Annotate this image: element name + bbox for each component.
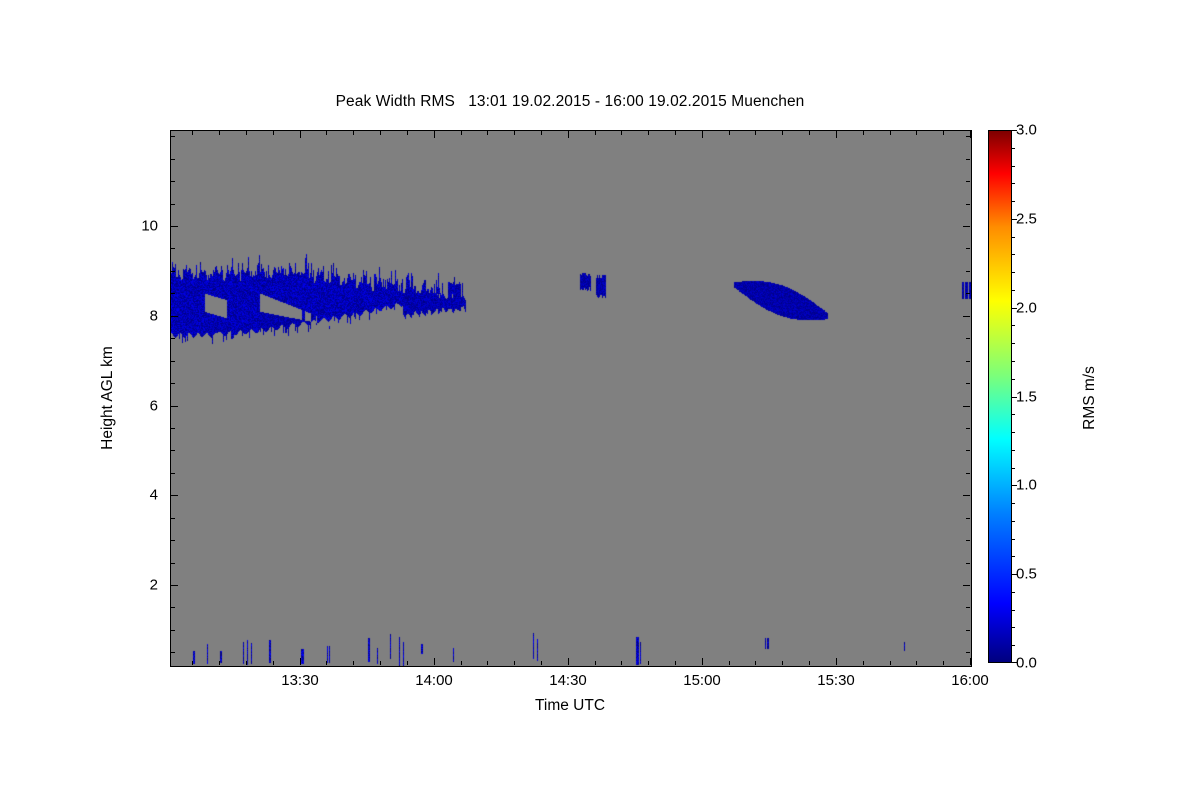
x-tick-top [809, 131, 810, 135]
x-tick-bottom [461, 661, 462, 665]
colorbar-ticklabel: 1.5 [1016, 389, 1037, 406]
plot-area[interactable] [170, 130, 972, 667]
x-tick-top [890, 131, 891, 135]
x-tick-top [192, 131, 193, 135]
figure-title: Peak Width RMS 13:01 19.02.2015 - 16:00 … [0, 93, 1140, 111]
colorbar-tick-minor [1012, 325, 1015, 326]
y-tick-right [966, 383, 970, 384]
colorbar-tick-minor [1012, 485, 1015, 486]
colorbar-tick-minor [1012, 414, 1015, 415]
x-tick-bottom [836, 658, 837, 665]
x-tick-bottom [353, 661, 354, 665]
x-ticklabel: 15:00 [683, 672, 721, 689]
x-tick-bottom [514, 661, 515, 665]
x-tick-top [380, 131, 381, 135]
y-tick-left [171, 563, 175, 564]
y-ticklabel: 2 [110, 577, 158, 594]
colorbar-gradient [988, 130, 1012, 663]
y-ticklabel: 6 [110, 398, 158, 415]
y-tick-right [966, 204, 970, 205]
y-tick-right [966, 271, 970, 272]
x-ticklabel: 16:00 [951, 672, 989, 689]
y-tick-left [171, 293, 175, 294]
x-tick-top [675, 131, 676, 135]
y-tick-right [966, 450, 970, 451]
heatmap-data-canvas [171, 131, 971, 666]
x-tick-top [729, 131, 730, 135]
y-tick-right [963, 226, 970, 227]
x-tick-top [353, 131, 354, 135]
y-tick-left [171, 630, 175, 631]
colorbar-tick-minor [1012, 539, 1015, 540]
y-tick-right [966, 563, 970, 564]
colorbar-tick-minor [1012, 379, 1015, 380]
y-tick-right [966, 630, 970, 631]
y-tick-right [966, 248, 970, 249]
y-tick-right [966, 181, 970, 182]
y-tick-right [966, 518, 970, 519]
colorbar-tick-minor [1012, 610, 1015, 611]
colorbar-title: RMS m/s [1081, 308, 1099, 488]
colorbar-tick-minor [1012, 148, 1015, 149]
x-tick-top [916, 131, 917, 135]
colorbar-tick-minor [1012, 290, 1015, 291]
y-tick-right [966, 159, 970, 160]
x-tick-bottom [809, 661, 810, 665]
x-tick-top [246, 131, 247, 135]
x-tick-bottom [541, 661, 542, 665]
x-tick-top [621, 131, 622, 135]
y-tick-right [963, 316, 970, 317]
y-tick-left [171, 271, 175, 272]
y-axis-title: Height AGL km [99, 288, 117, 508]
lidar-peak-width-rms-figure: Peak Width RMS 13:01 19.02.2015 - 16:00 … [0, 0, 1200, 800]
colorbar-tick-minor [1012, 592, 1015, 593]
x-tick-bottom [648, 661, 649, 665]
x-tick-bottom [273, 661, 274, 665]
x-tick-top [970, 131, 971, 138]
y-tick-right [966, 607, 970, 608]
colorbar-tick-minor [1012, 432, 1015, 433]
x-ticklabel: 14:00 [415, 672, 453, 689]
y-tick-left [171, 204, 175, 205]
x-ticklabel: 15:30 [817, 672, 855, 689]
colorbar-ticklabel: 0.5 [1016, 566, 1037, 583]
x-tick-top [595, 131, 596, 135]
colorbar-ticklabel: 2.0 [1016, 300, 1037, 317]
y-ticklabel: 4 [110, 487, 158, 504]
x-tick-top [326, 131, 327, 135]
y-tick-left [171, 159, 175, 160]
x-tick-bottom [970, 658, 971, 665]
x-tick-bottom [943, 661, 944, 665]
y-tick-right [963, 406, 970, 407]
y-tick-right [966, 540, 970, 541]
x-ticklabel: 14:30 [549, 672, 587, 689]
y-tick-right [963, 495, 970, 496]
colorbar-tick-minor [1012, 361, 1015, 362]
y-tick-left [171, 652, 175, 653]
colorbar-ticklabel: 1.0 [1016, 477, 1037, 494]
y-tick-right [966, 338, 970, 339]
x-tick-top [782, 131, 783, 135]
x-tick-bottom [192, 661, 193, 665]
y-tick-right [966, 473, 970, 474]
y-tick-left [171, 181, 175, 182]
y-tick-left [171, 585, 178, 586]
y-tick-left [171, 406, 178, 407]
colorbar-tick-minor [1012, 645, 1015, 646]
y-tick-left [171, 316, 178, 317]
colorbar-tick-minor [1012, 166, 1015, 167]
x-tick-bottom [729, 661, 730, 665]
x-tick-top [407, 131, 408, 135]
x-tick-bottom [568, 658, 569, 665]
x-tick-bottom [487, 661, 488, 665]
colorbar-ticklabel: 3.0 [1016, 122, 1037, 139]
y-tick-right [963, 585, 970, 586]
x-tick-top [461, 131, 462, 135]
x-tick-top [836, 131, 837, 138]
colorbar-tick-minor [1012, 627, 1015, 628]
colorbar-tick-minor [1012, 237, 1015, 238]
x-tick-top [434, 131, 435, 138]
x-tick-top [755, 131, 756, 135]
y-tick-left [171, 428, 175, 429]
y-tick-left [171, 338, 175, 339]
y-tick-left [171, 473, 175, 474]
x-ticklabel: 13:30 [281, 672, 319, 689]
y-ticklabel: 10 [110, 218, 158, 235]
y-tick-right [966, 136, 970, 137]
x-tick-top [300, 131, 301, 138]
y-tick-right [966, 293, 970, 294]
x-tick-bottom [755, 661, 756, 665]
x-tick-bottom [246, 661, 247, 665]
colorbar-tick-minor [1012, 450, 1015, 451]
y-tick-left [171, 136, 175, 137]
x-tick-bottom [621, 661, 622, 665]
x-tick-bottom [675, 661, 676, 665]
y-tick-left [171, 607, 175, 608]
x-tick-bottom [407, 661, 408, 665]
colorbar-tick-minor [1012, 468, 1015, 469]
colorbar-tick-minor [1012, 272, 1015, 273]
y-ticklabel: 8 [110, 308, 158, 325]
y-tick-left [171, 226, 178, 227]
x-tick-top [487, 131, 488, 135]
colorbar-tick-minor [1012, 183, 1015, 184]
x-tick-bottom [863, 661, 864, 665]
x-tick-bottom [782, 661, 783, 665]
y-tick-left [171, 361, 175, 362]
colorbar-tick-minor [1012, 201, 1015, 202]
y-tick-left [171, 450, 175, 451]
colorbar[interactable] [988, 130, 1012, 663]
colorbar-ticklabel: 0.0 [1016, 655, 1037, 672]
x-tick-top [568, 131, 569, 138]
x-tick-top [943, 131, 944, 135]
x-tick-bottom [434, 658, 435, 665]
x-tick-top [702, 131, 703, 138]
y-tick-right [966, 428, 970, 429]
x-tick-top [648, 131, 649, 135]
x-tick-top [514, 131, 515, 135]
y-tick-right [966, 361, 970, 362]
x-tick-bottom [300, 658, 301, 665]
x-tick-bottom [380, 661, 381, 665]
y-tick-right [966, 652, 970, 653]
x-axis-title: Time UTC [170, 697, 970, 715]
x-tick-top [541, 131, 542, 135]
colorbar-tick-minor [1012, 503, 1015, 504]
y-tick-left [171, 495, 178, 496]
x-tick-bottom [326, 661, 327, 665]
x-tick-bottom [702, 658, 703, 665]
x-tick-bottom [890, 661, 891, 665]
x-tick-top [273, 131, 274, 135]
y-tick-left [171, 518, 175, 519]
colorbar-tick-minor [1012, 521, 1015, 522]
x-tick-bottom [595, 661, 596, 665]
colorbar-ticklabel: 2.5 [1016, 211, 1037, 228]
colorbar-tick-minor [1012, 556, 1015, 557]
x-tick-top [219, 131, 220, 135]
x-tick-bottom [916, 661, 917, 665]
x-tick-top [863, 131, 864, 135]
colorbar-tick-minor [1012, 254, 1015, 255]
y-tick-left [171, 540, 175, 541]
colorbar-tick-minor [1012, 343, 1015, 344]
y-tick-left [171, 383, 175, 384]
y-tick-left [171, 248, 175, 249]
x-tick-bottom [219, 661, 220, 665]
